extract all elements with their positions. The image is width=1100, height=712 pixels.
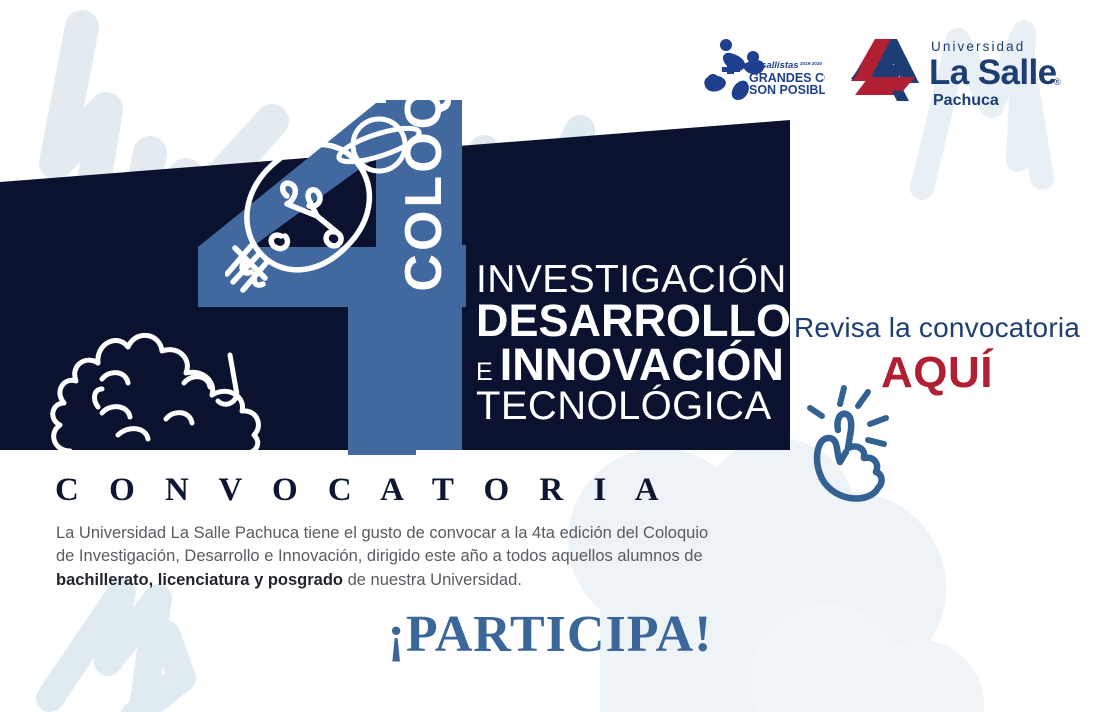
title-line-innovacion: E INNOVACIÓN	[476, 343, 768, 387]
la-salle-triangular-a-emblem-icon	[851, 39, 919, 101]
lasallistas-people-star-icon: Lasallistas 2019-2020 GRANDES COSAS SON …	[700, 36, 825, 106]
title-line-tecnologica: TECNOLÓGICA	[476, 387, 768, 426]
cloud-outline-icon	[40, 285, 275, 455]
convocatoria-heading: C O N V O C A T O R I A	[55, 472, 670, 509]
lasallistas-brand-text: Lasallistas	[750, 60, 799, 71]
body-text-bold: bachillerato, licenciatura y posgrado	[56, 571, 343, 589]
lasalle-pachuca-text: Pachuca	[933, 92, 999, 109]
title-line-investigacion: INVESTIGACIÓN	[476, 261, 768, 299]
participa-heading: ¡PARTICIPA!	[0, 605, 1100, 664]
body-text-part1: La Universidad La Salle Pachuca tiene el…	[56, 524, 708, 565]
lasalle-registered-mark: ®	[1054, 77, 1061, 87]
la-salle-pachuca-logo: Universidad La Salle ® Pachuca	[845, 33, 1070, 111]
title-word-innovacion: INNOVACIÓN	[500, 343, 784, 387]
cta-subtitle: Revisa la convocatoria	[792, 312, 1082, 344]
pointing-hand-tap-icon[interactable]	[800, 382, 910, 507]
body-text-part2: de nuestra Universidad.	[343, 571, 522, 589]
title-line-desarrollo: DESARROLLO	[476, 299, 768, 343]
poster-canvas: COLOQUIO	[0, 0, 1100, 712]
lasalle-universidad-text: Universidad	[931, 39, 1025, 54]
body-paragraph: La Universidad La Salle Pachuca tiene el…	[56, 522, 716, 592]
lasallistas-tagline-2: SON POSIBLES	[749, 83, 825, 97]
title-box: INVESTIGACIÓN DESARROLLO E INNOVACIÓN TE…	[466, 240, 776, 445]
title-conjunction-e: E	[476, 360, 493, 385]
lasalle-name-text: La Salle	[929, 53, 1057, 92]
lasallistas-years-text: 2019-2020	[800, 61, 822, 66]
